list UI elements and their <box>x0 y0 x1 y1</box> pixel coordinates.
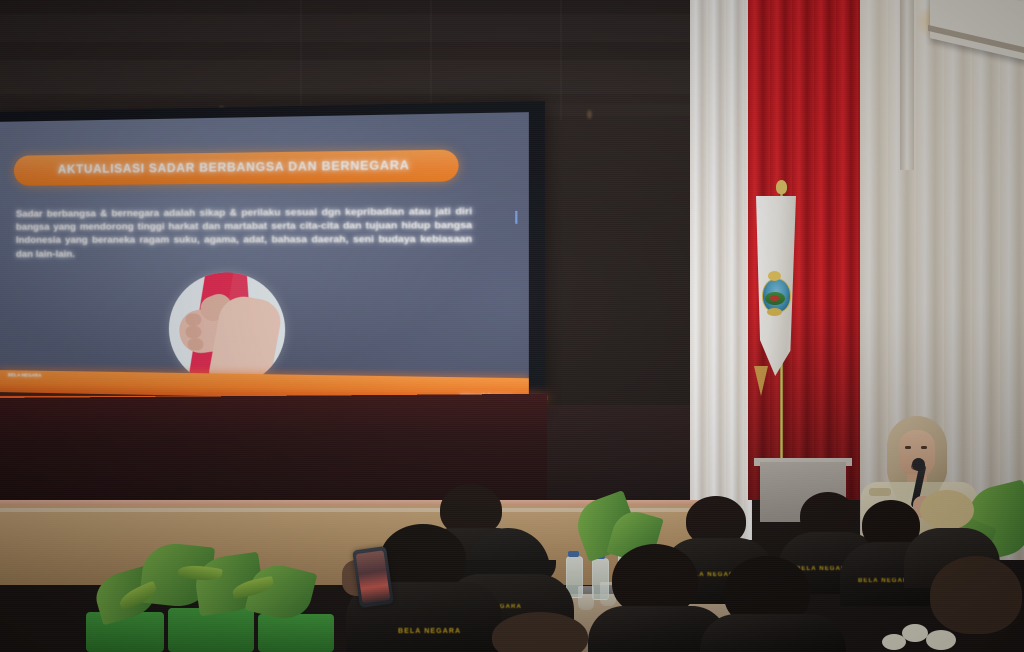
audience-shirt <box>700 614 846 652</box>
backdrop-band <box>0 14 700 42</box>
drinking-glass <box>578 586 594 610</box>
slide-title: AKTUALISASI SADAR BERBANGSA DAN BERNEGAR… <box>14 150 459 186</box>
screen-artifact <box>515 211 517 224</box>
audience-head <box>930 556 1022 634</box>
uniform-epaulet <box>869 488 891 496</box>
clasped-hands-icon <box>169 272 285 387</box>
projection-screen: AKTUALISASI SADAR BERBANGSA DAN BERNEGAR… <box>0 101 545 413</box>
wall-pillar <box>900 0 914 170</box>
presentation-hall-photo: AKTUALISASI SADAR BERBANGSA DAN BERNEGAR… <box>0 0 1024 652</box>
slide-title-banner: AKTUALISASI SADAR BERBANGSA DAN BERNEGAR… <box>14 150 459 186</box>
emblem-ornament <box>768 271 781 281</box>
microphone-head-icon <box>912 458 925 471</box>
slide-body-text: Sadar berbangsa & bernegara adalah sikap… <box>16 205 472 261</box>
backdrop-band <box>0 60 700 94</box>
straw-hat <box>920 490 974 530</box>
bottle-cap <box>568 551 579 557</box>
smartphone-screen <box>356 550 391 603</box>
plant-pot <box>258 614 334 652</box>
flag-finial <box>776 180 787 194</box>
white-curtain-center <box>690 0 752 540</box>
slide-footer-left-text: BELA NEGARA <box>8 372 42 378</box>
shirt-text: BELA NEGARA <box>398 628 461 635</box>
emblem-accent <box>770 295 779 301</box>
emblem-ribbon <box>767 308 782 316</box>
presentation-slide: AKTUALISASI SADAR BERBANGSA DAN BERNEGAR… <box>0 112 529 402</box>
